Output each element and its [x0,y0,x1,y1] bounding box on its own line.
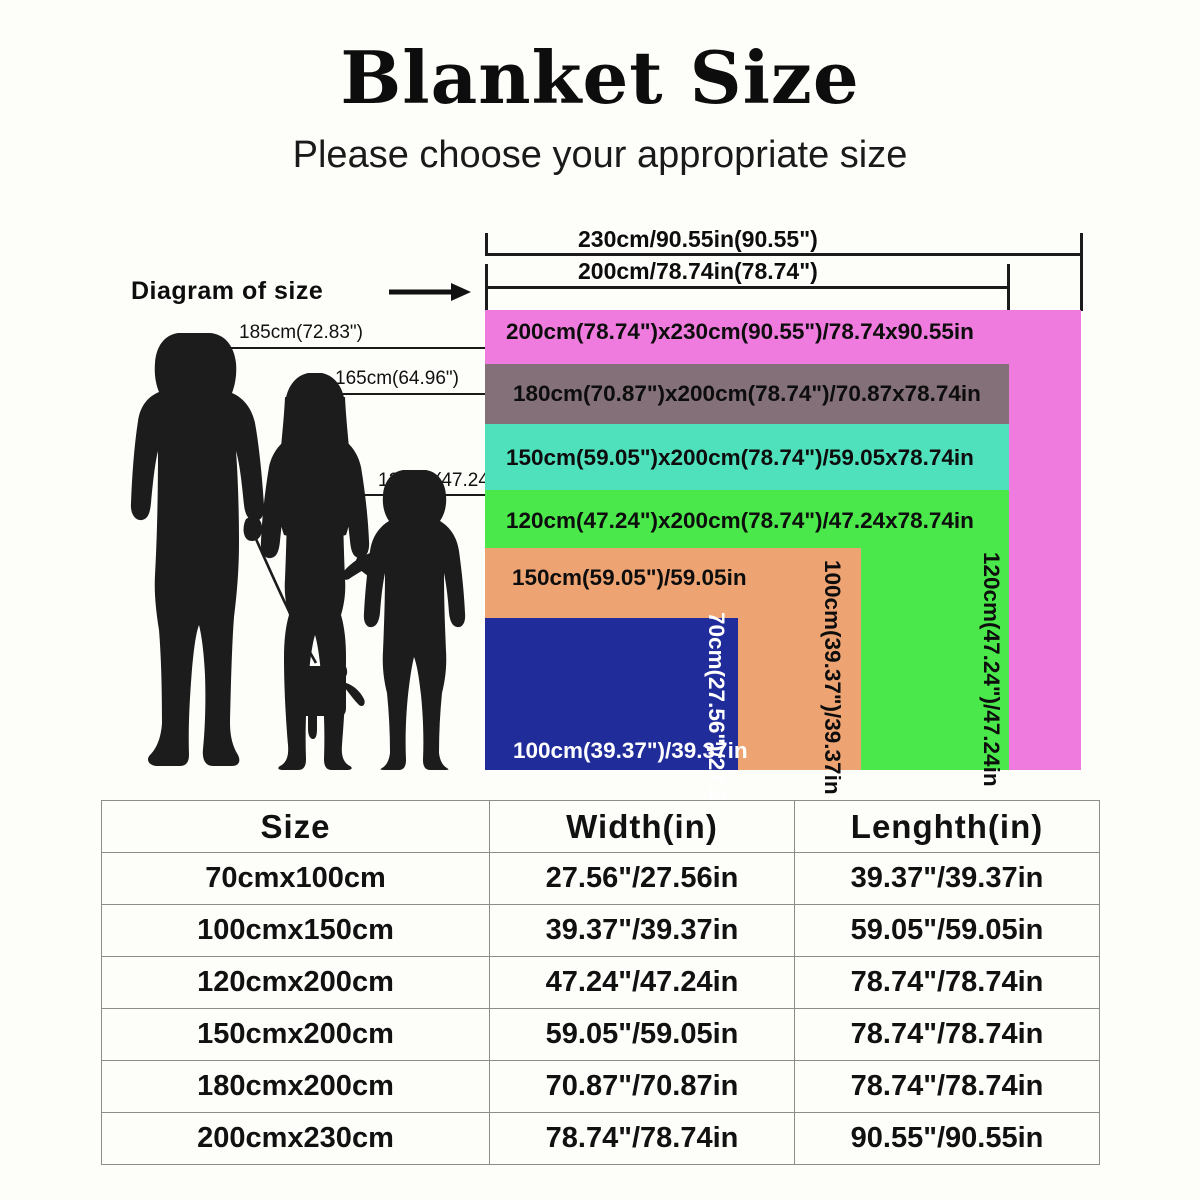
table-row[interactable]: 70cmx100cm 27.56"/27.56in 39.37"/39.37in [102,853,1100,905]
diagram-caption: Diagram of size [131,277,323,306]
cell-width: 27.56"/27.56in [490,853,795,905]
table-header-size: Size [102,801,490,853]
table-row[interactable]: 100cmx150cm 39.37"/39.37in 59.05"/59.05i… [102,905,1100,957]
dimension-label-230: 230cm/90.55in(90.55") [578,226,818,253]
cell-length: 90.55"/90.55in [795,1113,1100,1165]
cell-length: 39.37"/39.37in [795,853,1100,905]
dimension-tick-230-right [1080,233,1083,311]
cell-size: 150cmx200cm [102,1009,490,1061]
cell-width: 59.05"/59.05in [490,1009,795,1061]
man-silhouette [131,333,264,766]
right-arrow-icon [389,281,471,303]
cell-size: 70cmx100cm [102,853,490,905]
cell-width: 47.24"/47.24in [490,957,795,1009]
dimension-tick-200-left [485,264,488,310]
cell-size: 100cmx150cm [102,905,490,957]
page-subtitle: Please choose your appropriate size [0,136,1200,174]
page-title: Blanket Size [0,42,1200,114]
vlabel-green-height: 120cm(47.24")/47.24in [978,552,1004,787]
dimension-tick-230-left [485,233,488,255]
child-silhouette [364,470,465,770]
table-header-width: Width(in) [490,801,795,853]
band-label-180x200: 180cm(70.87")x200cm(78.74")/70.87x78.74i… [513,381,981,407]
cell-width: 78.74"/78.74in [490,1113,795,1165]
table-row[interactable]: 200cmx230cm 78.74"/78.74in 90.55"/90.55i… [102,1113,1100,1165]
size-table: Size Width(in) Lenghth(in) 70cmx100cm 27… [101,800,1100,1165]
cell-size: 200cmx230cm [102,1113,490,1165]
cell-width: 70.87"/70.87in [490,1061,795,1113]
cell-length: 78.74"/78.74in [795,957,1100,1009]
dimension-label-200: 200cm/78.74in(78.74") [578,258,818,285]
table-row[interactable]: 120cmx200cm 47.24"/47.24in 78.74"/78.74i… [102,957,1100,1009]
band-label-200x230: 200cm(78.74")x230cm(90.55")/78.74x90.55i… [506,319,974,345]
dimension-tick-200-right [1007,264,1010,310]
cell-length: 78.74"/78.74in [795,1009,1100,1061]
family-silhouette [120,325,480,770]
band-label-150x200: 150cm(59.05")x200cm(78.74")/59.05x78.74i… [506,445,974,471]
cell-size: 180cmx200cm [102,1061,490,1113]
table-row[interactable]: 150cmx200cm 59.05"/59.05in 78.74"/78.74i… [102,1009,1100,1061]
dimension-rule-200 [485,286,1010,289]
band-label-120x200: 120cm(47.24")x200cm(78.74")/47.24x78.74i… [506,508,974,534]
band-label-100x150: 150cm(59.05")/59.05in [512,565,747,591]
cell-length: 78.74"/78.74in [795,1061,1100,1113]
cell-length: 59.05"/59.05in [795,905,1100,957]
vlabel-blue-height: 70cm(27.56")/27.56i [703,612,729,820]
table-header-length: Lenghth(in) [795,801,1100,853]
table-header-row: Size Width(in) Lenghth(in) [102,801,1100,853]
cell-width: 39.37"/39.37in [490,905,795,957]
dimension-rule-230 [485,253,1083,256]
cell-size: 120cmx200cm [102,957,490,1009]
table-row[interactable]: 180cmx200cm 70.87"/70.87in 78.74"/78.74i… [102,1061,1100,1113]
vlabel-orange-height: 100cm(39.37")/39.37in [819,560,845,795]
